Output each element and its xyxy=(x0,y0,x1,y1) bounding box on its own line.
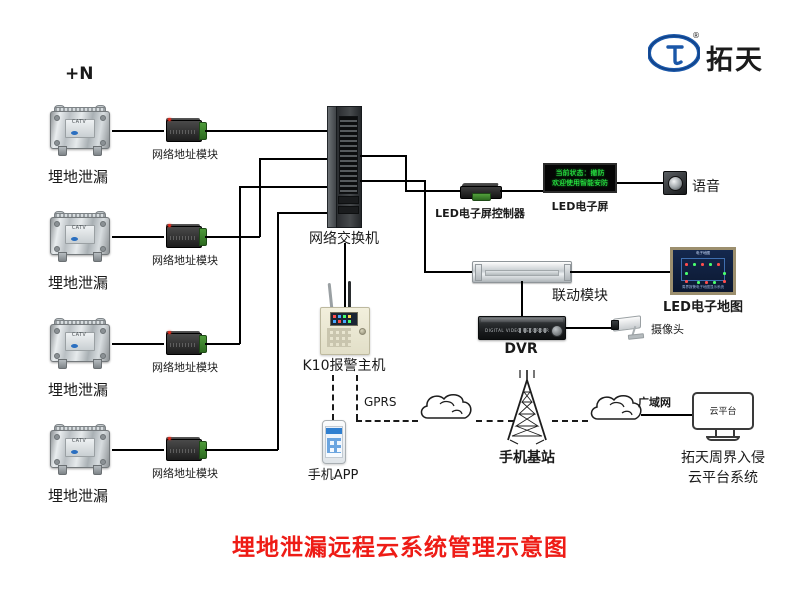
network-address-module-4 xyxy=(164,436,206,462)
cloud-platform-monitor: 云平台 xyxy=(692,392,754,442)
k10-label: K10报警主机 xyxy=(303,355,386,375)
module-label-2: 网络地址模块 xyxy=(152,252,218,268)
wire-switch-link-v xyxy=(424,180,426,272)
mobile-app-label: 手机APP xyxy=(308,464,359,483)
detector-text-catv-4: CATV xyxy=(72,438,86,444)
wire-detector2-module xyxy=(112,236,164,238)
buried-leak-detector-4: CATV xyxy=(46,422,112,474)
wire-switch-led-v xyxy=(405,155,407,191)
buried-leak-detector-2: CATV xyxy=(46,209,112,261)
wire-module3-h xyxy=(205,343,240,345)
wire-switch-led-h2 xyxy=(405,190,460,192)
wire-module1-switch xyxy=(205,130,327,132)
dash-k10-gprs-v xyxy=(356,375,358,420)
wire-module4-switch xyxy=(277,212,327,214)
wire-wan-monitor xyxy=(641,414,692,416)
network-switch xyxy=(327,106,361,226)
wire-module4-h xyxy=(205,449,278,451)
detector-text-catv-3: CATV xyxy=(72,332,86,338)
wire-module3-v xyxy=(239,186,241,344)
detector-label-2: 埋地泄漏 xyxy=(48,272,108,293)
wire-detector4-module xyxy=(112,449,164,451)
wire-module2-switch xyxy=(259,158,327,160)
led-screen-controller xyxy=(460,181,500,199)
dash-gprs-cloud xyxy=(356,420,418,422)
module-label-4: 网络地址模块 xyxy=(152,465,218,481)
linkage-module xyxy=(472,261,572,283)
registered-mark: ® xyxy=(692,31,700,40)
detector-text-catv-1: CATV xyxy=(72,119,86,125)
wire-screen-speaker xyxy=(617,182,663,184)
diagram-title: 埋地泄漏远程云系统管理示意图 xyxy=(232,528,568,562)
buried-leak-detector-3: CATV xyxy=(46,316,112,368)
diagram-canvas: ® 拓天 +N CATV 埋地泄漏 网络地址模块 CATV 埋地泄漏 网络地址模… xyxy=(0,0,800,600)
detector-label-1: 埋地泄漏 xyxy=(48,166,108,187)
led-screen-label: LED电子屏 xyxy=(552,198,609,214)
network-cloud-1 xyxy=(416,390,478,428)
led-map-footer: 周界报警电子地图显示系统 xyxy=(673,285,733,290)
dvr-label: DVR xyxy=(504,341,537,357)
mobile-app-phone xyxy=(322,420,346,464)
brand-name: 拓天 xyxy=(706,38,764,77)
network-address-module-2 xyxy=(164,223,206,249)
camera-label: 摄像头 xyxy=(651,321,684,337)
linkage-module-label: 联动模块 xyxy=(552,285,608,305)
module-label-1: 网络地址模块 xyxy=(152,146,218,162)
wire-module3-switch xyxy=(239,186,327,188)
led-controller-label: LED电子屏控制器 xyxy=(435,205,525,221)
detector-label-3: 埋地泄漏 xyxy=(48,379,108,400)
cloud-platform-label-1: 拓天周界入侵 xyxy=(681,447,765,467)
wire-linkage-dvr xyxy=(521,281,523,316)
detector-label-4: 埋地泄漏 xyxy=(48,485,108,506)
wire-controller-screen xyxy=(500,190,543,192)
led-map-label: LED电子地图 xyxy=(663,296,743,315)
wire-linkage-map xyxy=(570,271,670,273)
cctv-camera-icon xyxy=(611,315,647,339)
speaker-label: 语音 xyxy=(692,176,720,196)
gprs-label: GPRS xyxy=(364,395,397,409)
dvr-device: DIGITAL VIDEO RECORDER xyxy=(478,316,566,340)
wire-detector3-module xyxy=(112,343,164,345)
wan-label: 广域网 xyxy=(638,394,671,410)
wire-switch-link-h2 xyxy=(424,271,472,273)
cell-tower-icon xyxy=(500,368,554,446)
led-screen-line-1: 当前状态：撤防 xyxy=(547,168,613,178)
wire-switch-led-h1 xyxy=(360,155,407,157)
cell-tower-label: 手机基站 xyxy=(499,447,555,467)
cloud-platform-label-2: 云平台系统 xyxy=(688,467,758,487)
detector-text-catv-2: CATV xyxy=(72,225,86,231)
monitor-screen-text: 云平台 xyxy=(692,404,754,417)
led-map-header: 电子地图 xyxy=(673,251,733,256)
voice-speaker-icon xyxy=(663,171,687,195)
wire-switch-link-h1 xyxy=(360,180,426,182)
wire-dvr-camera xyxy=(566,327,611,329)
dash-k10-app-left xyxy=(332,375,334,420)
dash-tower-cloud2 xyxy=(552,420,588,422)
led-display-screen: 当前状态：撤防 欢迎使用智能安防 xyxy=(543,163,617,193)
led-screen-line-2: 欢迎使用智能安防 xyxy=(547,178,613,188)
wire-detector1-module xyxy=(112,130,164,132)
buried-leak-detector-1: CATV xyxy=(46,103,112,155)
led-map-floorplan xyxy=(681,258,725,281)
wire-module2-h xyxy=(205,236,260,238)
plus-n-label: +N xyxy=(65,64,93,84)
brand-logo: ® 拓天 xyxy=(648,33,788,79)
k10-alarm-host xyxy=(316,281,372,353)
network-address-module-1 xyxy=(164,117,206,143)
network-address-module-3 xyxy=(164,330,206,356)
wire-module2-v xyxy=(259,158,261,237)
led-electronic-map: 电子地图 周界报警电子地图显示系统 xyxy=(670,247,736,295)
module-label-3: 网络地址模块 xyxy=(152,359,218,375)
wire-module4-v xyxy=(277,212,279,450)
